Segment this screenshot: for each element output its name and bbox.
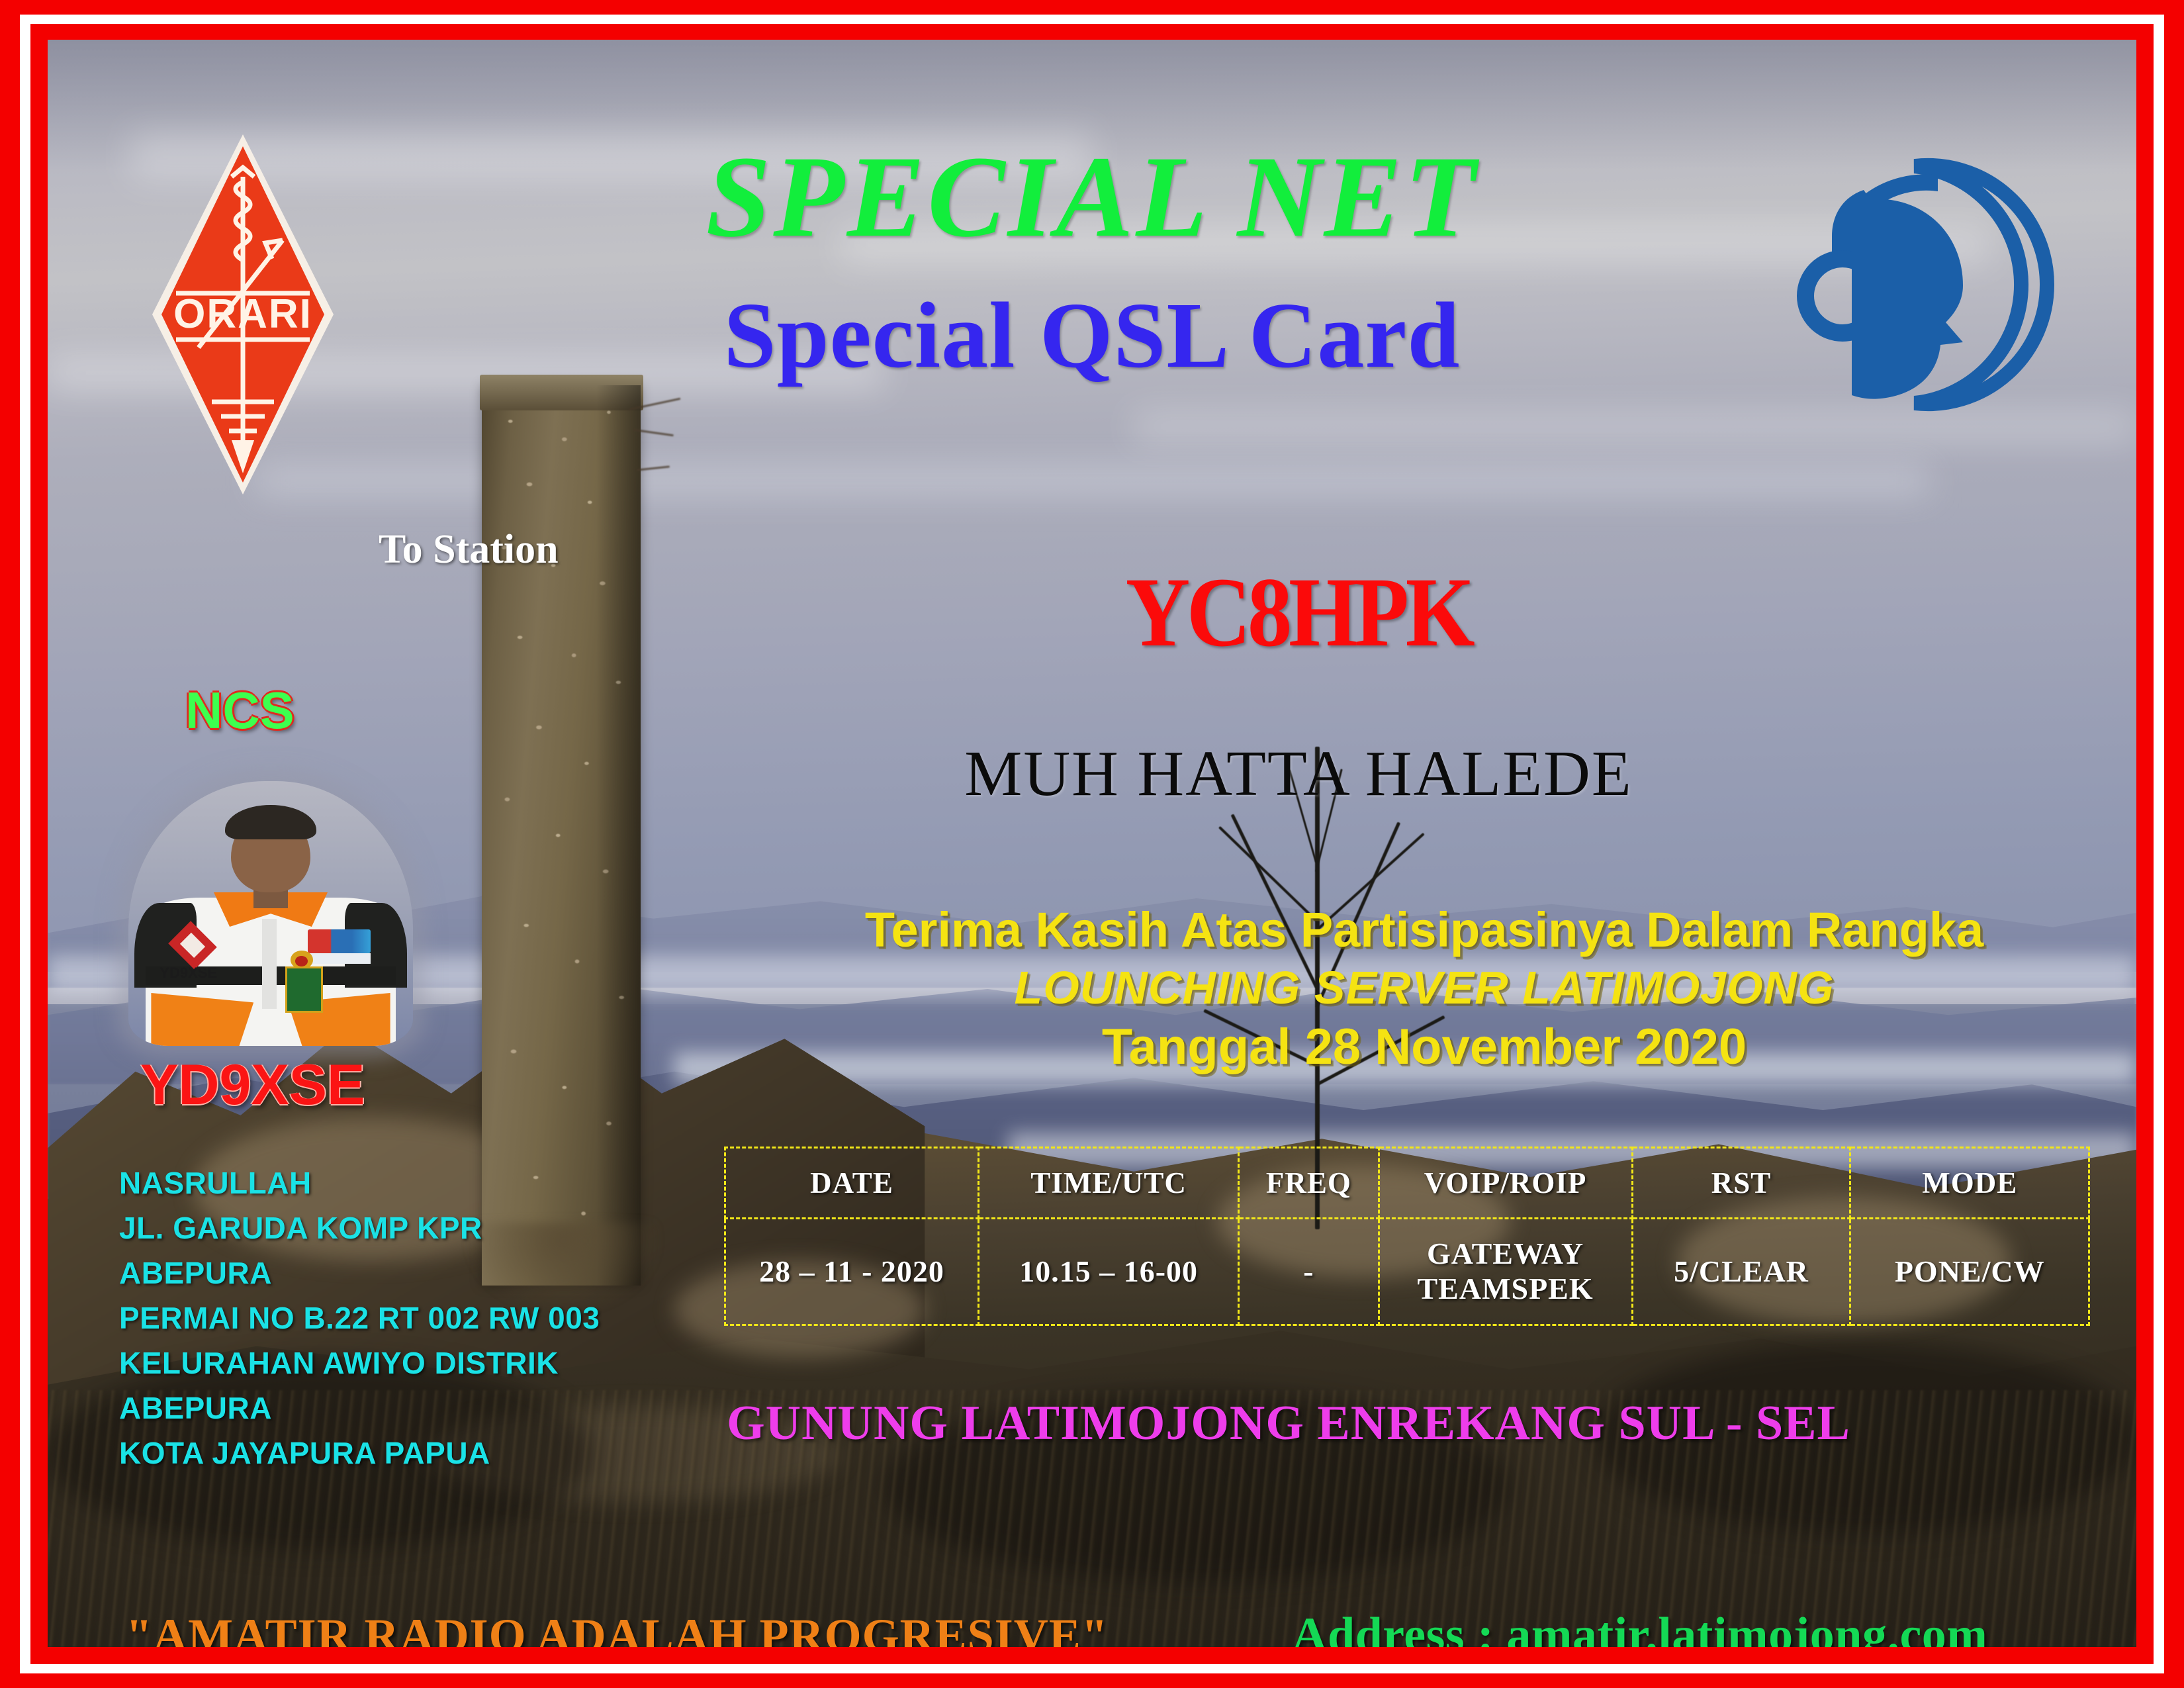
qso-log-table: DATE TIME/UTC FREQ VOIP/ROIP RST MODE 28… xyxy=(724,1147,2090,1326)
ncs-callsign: YD9XSE xyxy=(140,1053,365,1118)
ncs-label: NCS xyxy=(185,680,295,741)
to-station-label: To Station xyxy=(379,526,559,573)
uniform-placket xyxy=(262,919,277,1009)
message-line-2: LOUNCHING SERVER LATIMOJONG xyxy=(749,960,2099,1016)
header-voip: VOIP/ROIP xyxy=(1379,1148,1632,1219)
stone-monument-pillar xyxy=(482,385,641,1286)
station-operator-name: MUH HATTA HALEDE xyxy=(809,741,1788,806)
address-line: PERMAI NO B.22 RT 002 RW 003 xyxy=(119,1295,715,1340)
cell-rst: 5/CLEAR xyxy=(1632,1219,1850,1325)
cell-voip-line1: GATEWAY xyxy=(1427,1237,1584,1270)
message-line-1: Terima Kasih Atas Partisipasinya Dalam R… xyxy=(749,900,2099,960)
header-rst: RST xyxy=(1632,1148,1850,1219)
address-line: NASRULLAH xyxy=(119,1160,715,1205)
page-title: SPECIAL NET xyxy=(48,139,2136,256)
station-callsign: YC8HPK xyxy=(876,563,1721,662)
cell-voip: GATEWAY TEAMSPEK xyxy=(1379,1219,1632,1325)
address-line: ABEPURA xyxy=(119,1385,715,1430)
uniform-emblem xyxy=(308,929,371,953)
card-background-photo: ORARI xyxy=(48,40,2136,1647)
address-line: ABEPURA xyxy=(119,1250,715,1295)
recipient-address-block: NASRULLAH JL. GARUDA KOMP KPR ABEPURA PE… xyxy=(119,1160,715,1476)
header-freq: FREQ xyxy=(1239,1148,1379,1219)
footer-slogan: "AMATIR RADIO ADALAH PROGRESIVE" xyxy=(126,1609,1109,1647)
uniform-emblem-text xyxy=(308,953,371,964)
footer-website-address: Address : amatir.latimojong.com xyxy=(1292,1607,1987,1647)
uniform-name-tag: YD9XSE xyxy=(159,966,234,980)
qsl-card: ORARI xyxy=(0,0,2184,1688)
header-date: DATE xyxy=(725,1148,979,1219)
cell-date: 28 – 11 - 2020 xyxy=(725,1219,979,1325)
header-mode: MODE xyxy=(1850,1148,2089,1219)
id-card xyxy=(285,966,324,1013)
message-line-3: Tanggal 28 November 2020 xyxy=(749,1017,2099,1078)
cell-time: 10.15 – 16-00 xyxy=(979,1219,1239,1325)
header-time: TIME/UTC xyxy=(979,1148,1239,1219)
address-line: KOTA JAYAPURA PAPUA xyxy=(119,1430,715,1476)
address-line: KELURAHAN AWIYO DISTRIK xyxy=(119,1340,715,1385)
cell-voip-line2: TEAMSPEK xyxy=(1418,1272,1594,1305)
address-line: JL. GARUDA KOMP KPR xyxy=(119,1205,715,1250)
thank-you-message: Terima Kasih Atas Partisipasinya Dalam R… xyxy=(749,900,2099,1078)
cell-mode: PONE/CW xyxy=(1850,1219,2089,1325)
ncs-operator-photo: YD9XSE xyxy=(128,781,413,1046)
table-header-row: DATE TIME/UTC FREQ VOIP/ROIP RST MODE xyxy=(725,1148,2089,1219)
page-subtitle: Special QSL Card xyxy=(48,288,2136,382)
table-row: 28 – 11 - 2020 10.15 – 16-00 - GATEWAY T… xyxy=(725,1219,2089,1325)
monument-shadow xyxy=(596,385,641,1286)
location-text: GUNUNG LATIMOJONG ENREKANG SUL - SEL xyxy=(643,1395,1934,1452)
cell-freq: - xyxy=(1239,1219,1379,1325)
